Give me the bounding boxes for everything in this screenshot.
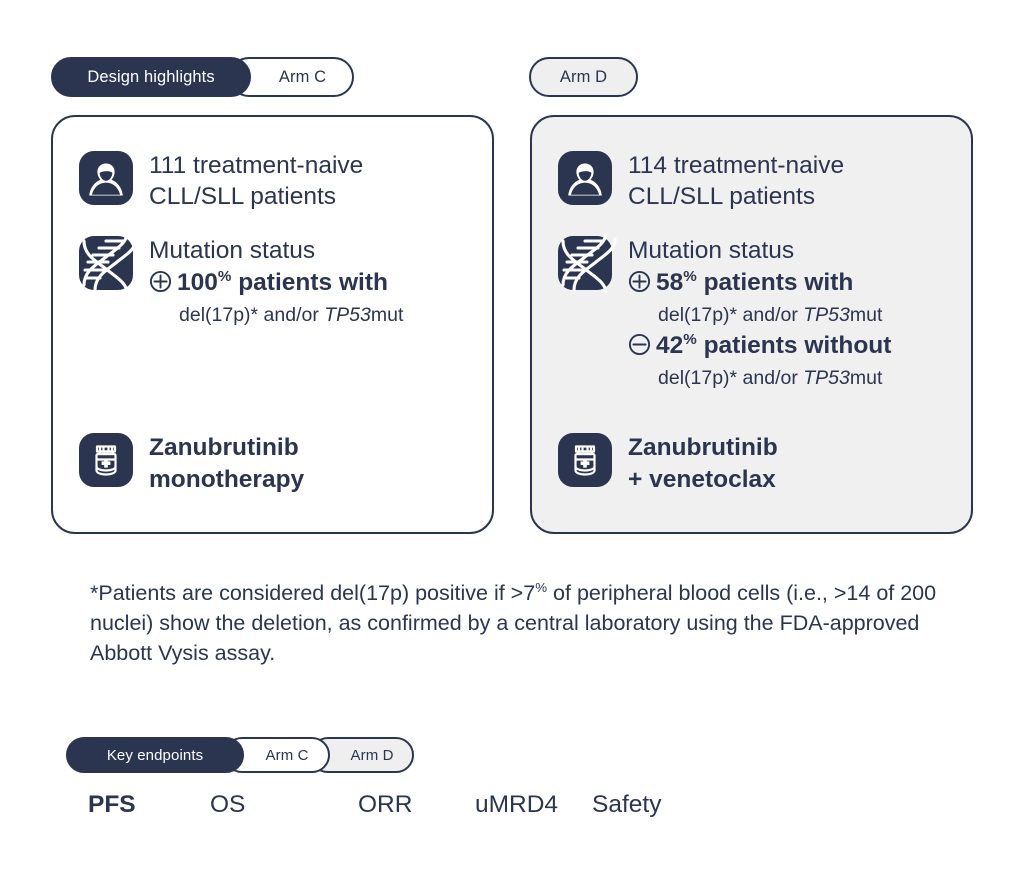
footnote: *Patients are considered del(17p) positi…: [90, 578, 950, 668]
design-highlights-tab-group: Design highlights Arm C: [51, 57, 354, 97]
tab-arm-c-endpoints-label: Arm C: [266, 747, 309, 764]
arm-d-mutation-entry-0-sub: del(17p)* and/or TP53mut: [628, 302, 891, 329]
arm-c-drug-line1: Zanubrutinib: [149, 432, 304, 464]
tab-key-endpoints-label: Key endpoints: [107, 747, 203, 764]
arm-c-sub0-pre: del(17p)* and/or: [179, 304, 324, 326]
endpoint-umrd4: uMRD4: [475, 791, 592, 819]
arm-c-sub0-post: mut: [371, 304, 404, 326]
arm-d-drug-text: Zanubrutinib + venetoclax: [628, 431, 778, 496]
arm-c-drug-row: Zanubrutinib monotherapy: [79, 431, 304, 496]
endpoint-pfs: PFS: [88, 791, 210, 819]
arm-d-patients-row: 114 treatment-naive CLL/SLL patients: [558, 149, 945, 212]
arm-c-sub0-gene: TP53: [324, 304, 371, 326]
key-endpoints-tab-group: Key endpoints Arm C Arm D: [66, 735, 414, 775]
arm-c-mutation-entry-0-main: 100% patients with: [149, 267, 403, 302]
arm-d-mutation-entry-0-label: patients with: [697, 269, 854, 296]
arm-d-sub0-pre: del(17p)* and/or: [658, 304, 803, 326]
arm-c-patients-line2: CLL/SLL patients: [149, 181, 363, 212]
endpoint-orr: ORR: [358, 791, 475, 819]
endpoint-safety: Safety: [592, 791, 661, 819]
tab-arm-c-top-label: Arm C: [279, 68, 326, 87]
arm-d-mutation-entry-1: 42% patients without del(17p)* and/or TP…: [628, 330, 891, 392]
card-arm-d: 114 treatment-naive CLL/SLL patients: [530, 115, 973, 534]
arm-d-mutation-entry-1-pct: %: [683, 331, 697, 348]
arm-d-mutation-title: Mutation status: [628, 235, 891, 266]
pill-bottle-icon: [558, 433, 612, 487]
arm-d-sub1-pre: del(17p)* and/or: [658, 367, 803, 389]
arm-c-patients-text: 111 treatment-naive CLL/SLL patients: [149, 149, 363, 212]
endpoint-os: OS: [210, 791, 358, 819]
tab-design-highlights-label: Design highlights: [87, 68, 214, 87]
arm-d-mutation-entry-0: 58% patients with del(17p)* and/or TP53m…: [628, 267, 891, 329]
person-icon: [558, 151, 612, 205]
card-arm-c: 111 treatment-naive CLL/SLL patients: [51, 115, 494, 534]
arm-c-drug-line2: monotherapy: [149, 464, 304, 496]
tab-key-endpoints[interactable]: Key endpoints: [66, 737, 244, 773]
arm-d-sub1-gene: TP53: [803, 367, 850, 389]
arm-c-mutation-row: Mutation status 100% patients with del(1…: [79, 234, 466, 329]
arm-d-mutation-text: Mutation status 58% patients with del(17…: [628, 234, 891, 392]
arm-d-patients-line1: 114 treatment-naive: [628, 150, 844, 181]
plus-circle-icon: [628, 270, 653, 302]
infographic-page: Design highlights Arm C Arm D 111 treatm…: [0, 0, 1024, 879]
arm-d-sub0-gene: TP53: [803, 304, 850, 326]
arm-d-tab-group: Arm D: [529, 57, 638, 97]
arm-d-mutation-row: Mutation status 58% patients with del(17…: [558, 234, 945, 392]
arm-c-mutation-entry-0-value: 100: [177, 269, 218, 296]
arm-d-mutation-entry-0-value: 58: [656, 269, 683, 296]
arm-d-mutation-entry-1-main: 42% patients without: [628, 330, 891, 365]
tab-arm-d-top-label: Arm D: [560, 68, 607, 87]
pill-bottle-icon: [79, 433, 133, 487]
arm-d-sub0-post: mut: [850, 304, 883, 326]
arm-d-mutation-entry-1-value: 42: [656, 332, 683, 359]
arm-d-patients-line2: CLL/SLL patients: [628, 181, 844, 212]
arm-c-patients-row: 111 treatment-naive CLL/SLL patients: [79, 149, 466, 212]
arm-d-drug-line2: + venetoclax: [628, 464, 778, 496]
person-icon: [79, 151, 133, 205]
footnote-pct: %: [535, 580, 547, 595]
arm-c-patients-line1: 111 treatment-naive: [149, 150, 363, 181]
tab-arm-d-endpoints-label: Arm D: [351, 747, 394, 764]
minus-circle-icon: [628, 333, 653, 365]
plus-circle-icon: [149, 270, 174, 302]
endpoints-row: PFS OS ORR uMRD4 Safety: [88, 791, 661, 819]
arm-c-mutation-entry-0-label: patients with: [231, 269, 388, 296]
arm-c-mutation-title: Mutation status: [149, 235, 403, 266]
arm-d-mutation-entry-0-main: 58% patients with: [628, 267, 891, 302]
arm-d-drug-row: Zanubrutinib + venetoclax: [558, 431, 778, 496]
arm-c-mutation-entry-0-pct: %: [218, 268, 232, 285]
arm-d-mutation-entry-1-sub: del(17p)* and/or TP53mut: [628, 365, 891, 392]
arm-c-drug-text: Zanubrutinib monotherapy: [149, 431, 304, 496]
arm-c-mutation-text: Mutation status 100% patients with del(1…: [149, 234, 403, 329]
tab-arm-d-top[interactable]: Arm D: [529, 57, 638, 97]
arm-c-mutation-entry-0: 100% patients with del(17p)* and/or TP53…: [149, 267, 403, 329]
arm-d-patients-text: 114 treatment-naive CLL/SLL patients: [628, 149, 844, 212]
arm-d-mutation-entry-0-pct: %: [683, 268, 697, 285]
tab-design-highlights[interactable]: Design highlights: [51, 57, 251, 97]
dna-icon: [558, 236, 612, 290]
arm-d-mutation-entry-1-label: patients without: [697, 332, 892, 359]
arm-d-sub1-post: mut: [850, 367, 883, 389]
arm-c-mutation-entry-0-sub: del(17p)* and/or TP53mut: [149, 302, 403, 329]
footnote-part1: *Patients are considered del(17p) positi…: [90, 581, 535, 605]
arm-d-drug-line1: Zanubrutinib: [628, 432, 778, 464]
dna-icon: [79, 236, 133, 290]
